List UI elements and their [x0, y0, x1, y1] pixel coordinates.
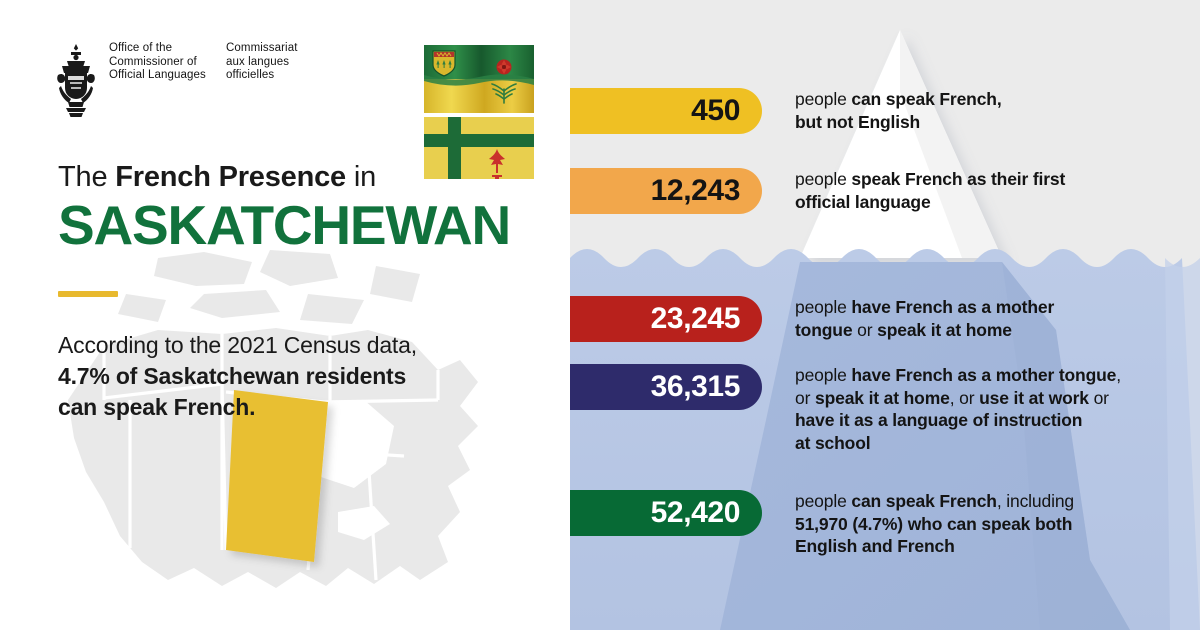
stat-description: people can speak French,but not English	[795, 88, 1195, 133]
stat-value: 52,420	[651, 496, 740, 530]
title-emphasis: French Presence	[115, 161, 346, 193]
logo-text-fr: Commissariat aux langues officielles	[226, 42, 322, 83]
stat-value: 36,315	[651, 370, 740, 404]
stat-bar: 52,420	[570, 490, 762, 536]
stat-value: 12,243	[651, 174, 740, 208]
census-blurb: According to the 2021 Census data, 4.7% …	[58, 330, 498, 423]
stat-row: 450 people can speak French,but not Engl…	[570, 88, 1195, 134]
title-suffix: in	[346, 161, 376, 193]
blurb-line-2: 4.7% of Saskatchewan residents	[58, 361, 498, 392]
stat-description: people can speak French, including51,970…	[795, 490, 1195, 558]
stats-list: 450 people can speak French,but not Engl…	[570, 0, 1200, 630]
blurb-line-3: can speak French.	[58, 392, 498, 423]
stat-bar: 12,243	[570, 168, 762, 214]
stat-row: 36,315 people have French as a mother to…	[570, 364, 1195, 454]
title-line-1: The French Presence in	[58, 160, 558, 194]
logo-text-en: Office of the Commissioner of Official L…	[109, 42, 214, 83]
canada-coat-of-arms-icon	[55, 42, 97, 120]
stat-bar: 450	[570, 88, 762, 134]
flags-group	[424, 45, 534, 179]
blurb-line-1: According to the 2021 Census data,	[58, 330, 498, 361]
stat-description: people have French as a mothertongue or …	[795, 296, 1195, 341]
stat-bar: 23,245	[570, 296, 762, 342]
title-province: SASKATCHEWAN	[58, 195, 558, 255]
stat-value: 23,245	[651, 302, 740, 336]
gold-divider	[58, 291, 118, 297]
page-title: The French Presence in SASKATCHEWAN	[58, 160, 558, 255]
stat-value: 450	[691, 94, 740, 128]
right-panel: 450 people can speak French,but not Engl…	[570, 0, 1200, 630]
organization-logo: Office of the Commissioner of Official L…	[55, 42, 322, 120]
stat-description: people have French as a mother tongue,or…	[795, 364, 1195, 454]
saskatchewan-flag-icon	[424, 45, 534, 113]
canada-map-icon	[8, 250, 568, 630]
stat-bar: 36,315	[570, 364, 762, 410]
stat-description: people speak French as their firstoffici…	[795, 168, 1195, 213]
stat-row: 23,245 people have French as a motherton…	[570, 296, 1195, 342]
title-prefix: The	[58, 161, 115, 193]
stat-row: 52,420 people can speak French, includin…	[570, 490, 1195, 558]
infographic-root: Office of the Commissioner of Official L…	[0, 0, 1200, 630]
stat-row: 12,243 people speak French as their firs…	[570, 168, 1195, 214]
left-panel: Office of the Commissioner of Official L…	[0, 0, 570, 630]
